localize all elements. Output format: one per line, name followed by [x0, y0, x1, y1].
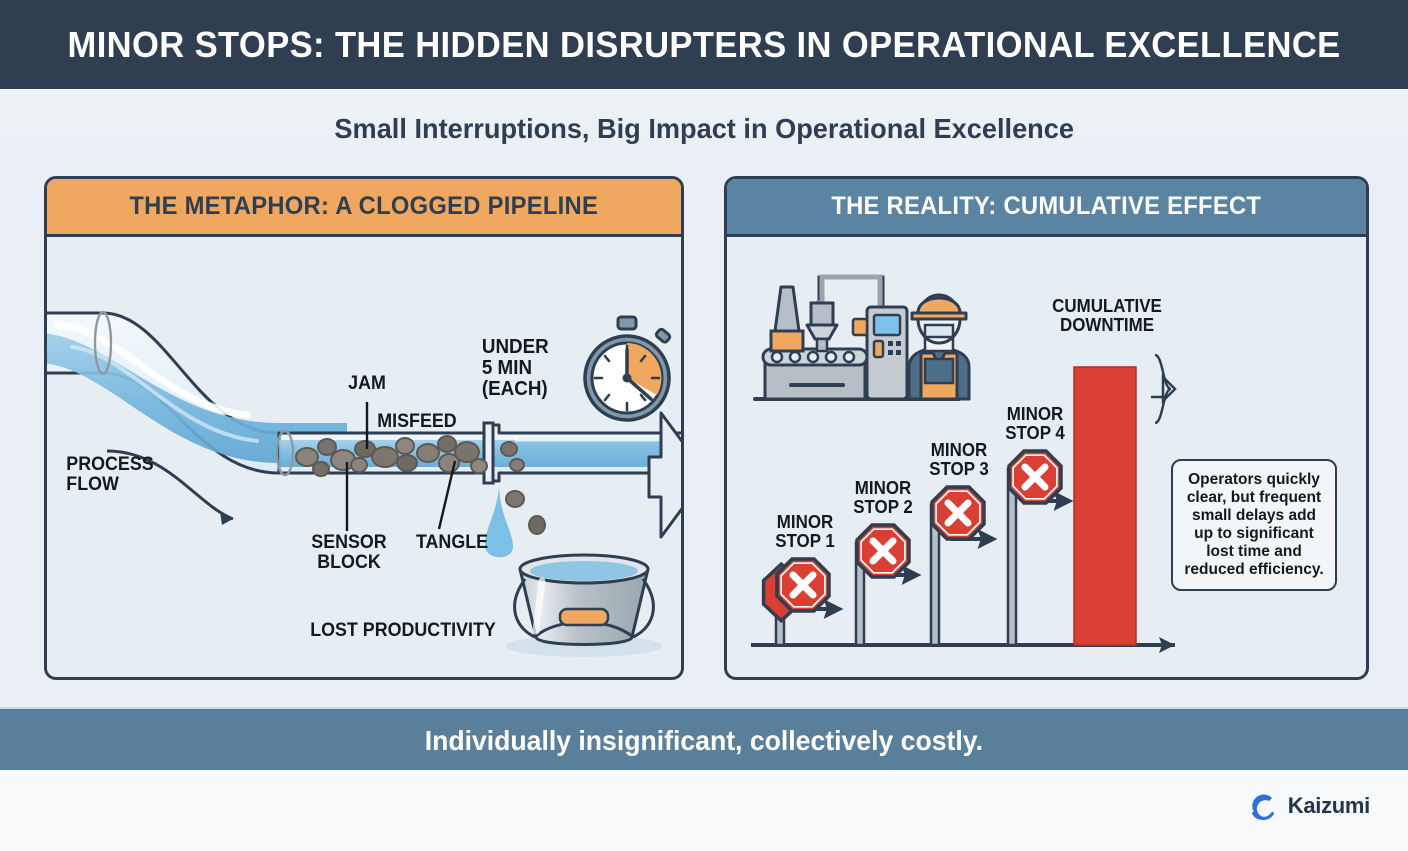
- page-subtitle: Small Interruptions, Big Impact in Opera…: [334, 113, 1074, 145]
- brand-logo: Kaizumi: [1245, 789, 1370, 823]
- brand-name: Kaizumi: [1288, 793, 1370, 819]
- panel-reality-body: MINOR STOP 1 MINOR STOP 2 MINOR STOP 3 M…: [727, 237, 1366, 680]
- label-cumulative-downtime: CUMULATIVE DOWNTIME: [1037, 297, 1176, 335]
- label-minor-stop-3: MINOR STOP 3: [918, 441, 1001, 479]
- stop-sign-icon-2: [855, 523, 911, 579]
- footer-tagline-bar: Individually insignificant, collectively…: [0, 707, 1408, 772]
- kaizumi-swirl-icon: [1245, 789, 1279, 823]
- callout-operators-note: Operators quickly clear, but frequent sm…: [1171, 459, 1337, 591]
- panel-metaphor-body: PROCESS FLOW JAM MISFEED SENSOR BLOCK TA…: [47, 237, 681, 680]
- infographic-canvas: MINOR STOPS: THE HIDDEN DISRUPTERS IN OP…: [0, 0, 1408, 851]
- label-stopwatch-duration: UNDER 5 MIN (EACH): [482, 337, 572, 401]
- label-minor-stop-1: MINOR STOP 1: [764, 513, 847, 551]
- title-bar: MINOR STOPS: THE HIDDEN DISRUPTERS IN OP…: [0, 0, 1408, 89]
- panel-reality-header: THE REALITY: CUMULATIVE EFFECT: [727, 179, 1366, 237]
- label-process-flow: PROCESS FLOW: [66, 455, 169, 495]
- page-title: MINOR STOPS: THE HIDDEN DISRUPTERS IN OP…: [67, 24, 1340, 66]
- label-minor-stop-4: MINOR STOP 4: [994, 405, 1077, 443]
- panel-reality: THE REALITY: CUMULATIVE EFFECT: [724, 176, 1369, 680]
- label-lost-productivity: LOST PRODUCTIVITY: [305, 621, 501, 641]
- footer-tagline: Individually insignificant, collectively…: [425, 725, 983, 757]
- label-jam: JAM: [337, 374, 397, 394]
- stopwatch-icon: [572, 315, 682, 425]
- subtitle-band: Small Interruptions, Big Impact in Opera…: [0, 89, 1408, 169]
- label-sensor-block: SENSOR BLOCK: [300, 533, 398, 573]
- label-tangle: TANGLE: [407, 533, 497, 553]
- label-minor-stop-2: MINOR STOP 2: [842, 479, 925, 517]
- stop-sign-icon-3: [930, 485, 986, 541]
- cumulative-downtime-bar: [1074, 367, 1136, 645]
- stop-sign-icon-4: [1007, 449, 1063, 505]
- panel-metaphor: THE METAPHOR: A CLOGGED PIPELINE: [44, 176, 684, 680]
- label-misfeed: MISFEED: [361, 412, 474, 432]
- panel-reality-title: THE REALITY: CUMULATIVE EFFECT: [832, 192, 1262, 221]
- panel-metaphor-title: THE METAPHOR: A CLOGGED PIPELINE: [130, 192, 599, 221]
- brand-strip: Kaizumi: [0, 770, 1408, 851]
- panel-metaphor-header: THE METAPHOR: A CLOGGED PIPELINE: [47, 179, 681, 237]
- stop-sign-icon-1: [775, 557, 831, 613]
